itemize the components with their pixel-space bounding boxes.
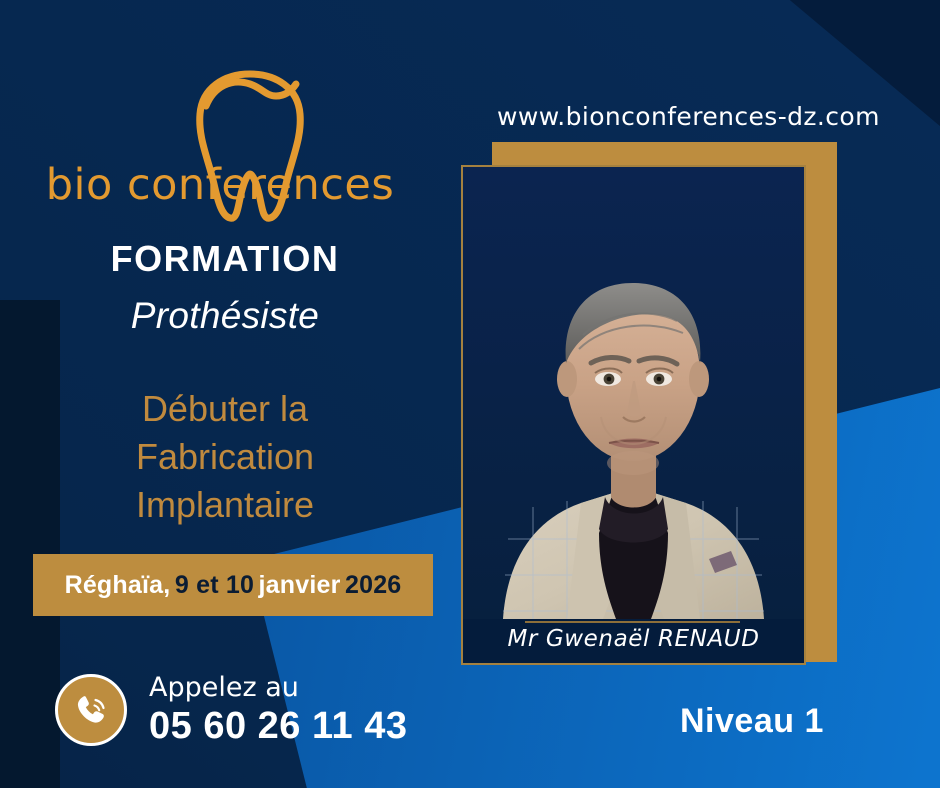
- phone-icon: [70, 689, 112, 731]
- course-title-line-3: Implantaire: [0, 481, 450, 529]
- portrait-illustration: [463, 167, 804, 619]
- speaker-photo: [463, 167, 804, 619]
- promotional-poster: bio conferences FORMATION Prothésiste Dé…: [0, 0, 940, 788]
- course-title-line-2: Fabrication: [0, 433, 450, 481]
- contact-text: Appelez au 05 60 26 11 43: [149, 672, 407, 748]
- date-part-days: 9 et 10: [175, 571, 254, 600]
- brand-logo: bio conferences: [40, 62, 400, 227]
- phone-icon-badge: [55, 674, 127, 746]
- brand-logo-text: bio conferences: [40, 160, 400, 210]
- phone-number[interactable]: 05 60 26 11 43: [149, 704, 407, 748]
- left-content-column: bio conferences FORMATION Prothésiste Dé…: [0, 0, 460, 788]
- course-level-badge: Niveau 1: [680, 702, 824, 741]
- speaker-name-rule: [525, 621, 740, 623]
- speaker-name: Mr Gwenaël RENAUD: [461, 626, 806, 652]
- course-title-line-1: Débuter la: [0, 385, 450, 433]
- website-url[interactable]: www.bionconferences-dz.com: [497, 102, 880, 131]
- course-audience: Prothésiste: [0, 295, 450, 337]
- date-part-year: 2026: [345, 571, 401, 600]
- course-title: Débuter la Fabrication Implantaire: [0, 385, 450, 529]
- date-part-location: Réghaïa,: [65, 571, 171, 600]
- event-date-ribbon: Réghaïa, 9 et 10 janvier 2026: [33, 554, 433, 616]
- course-kicker: FORMATION: [0, 238, 450, 280]
- date-part-month: janvier: [259, 571, 341, 600]
- contact-block[interactable]: Appelez au 05 60 26 11 43: [55, 672, 407, 748]
- call-label: Appelez au: [149, 672, 407, 704]
